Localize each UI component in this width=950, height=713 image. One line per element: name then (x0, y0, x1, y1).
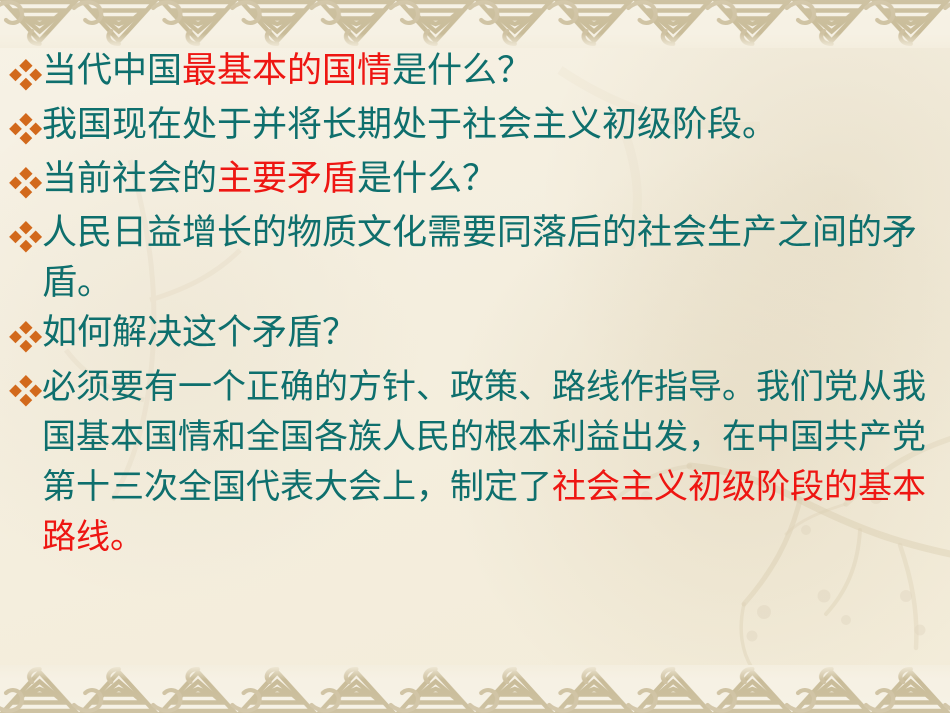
body-text: 是什么？ (357, 159, 497, 199)
diamond-cluster-bullet-icon (8, 156, 42, 208)
list-item: 当代中国最基本的国情是什么？ (0, 46, 950, 100)
list-item-text: 我国现在处于并将长期处于社会主义初级阶段。 (42, 100, 950, 150)
diamond-cluster-bullet-icon (8, 210, 42, 262)
diamond-cluster-bullet-icon (8, 364, 42, 416)
list-item: 当前社会的主要矛盾是什么？ (0, 154, 950, 208)
body-text: 当前社会的 (42, 159, 217, 199)
list-item: 如何解决这个矛盾？ (0, 308, 950, 362)
highlighted-text: 主要矛盾 (217, 159, 357, 199)
body-text: 人民日益增长的物质文化需要同落后的社会生产之间的矛盾。 (42, 213, 917, 303)
decorative-border-top (0, 0, 950, 48)
list-item: 我国现在处于并将长期处于社会主义初级阶段。 (0, 100, 950, 154)
list-item-text: 人民日益增长的物质文化需要同落后的社会生产之间的矛盾。 (42, 208, 950, 308)
list-item-text: 当前社会的主要矛盾是什么？ (42, 154, 950, 204)
diamond-cluster-bullet-icon (8, 310, 42, 362)
diamond-cluster-bullet-icon (8, 102, 42, 154)
body-text: 我国现在处于并将长期处于社会主义初级阶段。 (42, 105, 777, 145)
body-text: 当代中国 (42, 51, 182, 91)
diamond-cluster-bullet-icon (8, 48, 42, 100)
presentation-slide: 当代中国最基本的国情是什么？ 我国现在处于并将长期处于社会主义初级阶段。 (0, 0, 950, 713)
list-item-text: 如何解决这个矛盾？ (42, 308, 950, 358)
slide-body: 当代中国最基本的国情是什么？ 我国现在处于并将长期处于社会主义初级阶段。 (0, 46, 950, 646)
decorative-border-bottom (0, 665, 950, 713)
highlighted-text: 最基本的国情 (182, 51, 392, 91)
list-item-text: 当代中国最基本的国情是什么？ (42, 46, 950, 96)
body-text: 如何解决这个矛盾？ (42, 313, 357, 353)
list-item: 人民日益增长的物质文化需要同落后的社会生产之间的矛盾。 (0, 208, 950, 308)
list-item: 必须要有一个正确的方针、政策、路线作指导。我们党从我国基本国情和全国各族人民的根… (0, 362, 950, 562)
list-item-text: 必须要有一个正确的方针、政策、路线作指导。我们党从我国基本国情和全国各族人民的根… (42, 362, 950, 562)
body-text: 是什么？ (392, 51, 532, 91)
